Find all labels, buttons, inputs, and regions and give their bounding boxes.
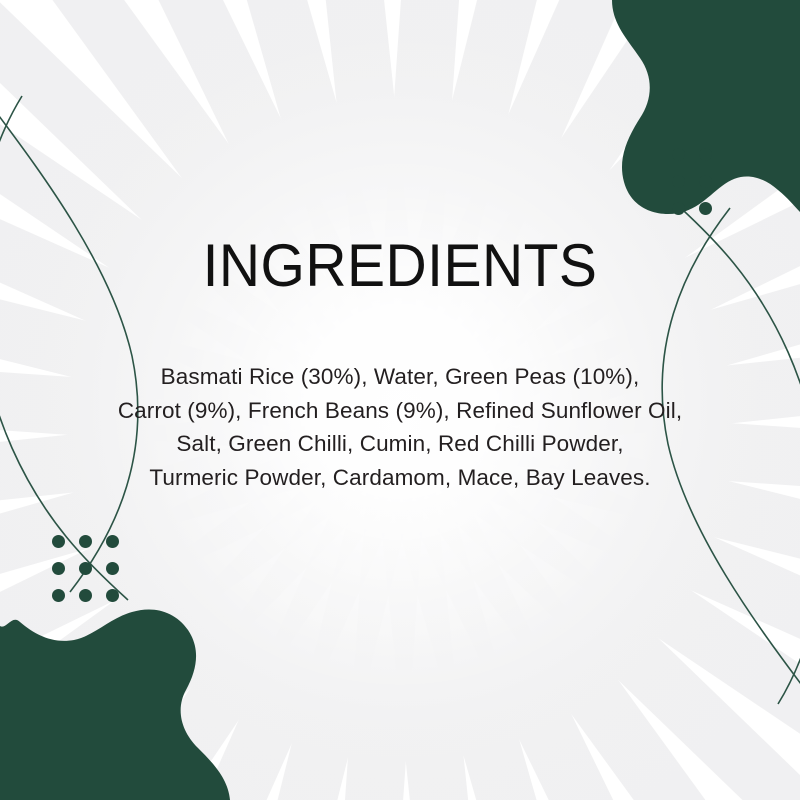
ingredients-line: Turmeric Powder, Cardamom, Mace, Bay Lea… [0,461,800,495]
content-area: INGREDIENTS Basmati Rice (30%), Water, G… [0,0,800,800]
ingredients-line: Carrot (9%), French Beans (9%), Refined … [0,394,800,428]
ingredients-label-canvas: INGREDIENTS Basmati Rice (30%), Water, G… [0,0,800,800]
ingredients-line: Basmati Rice (30%), Water, Green Peas (1… [0,360,800,394]
ingredients-list: Basmati Rice (30%), Water, Green Peas (1… [0,360,800,494]
ingredients-line: Salt, Green Chilli, Cumin, Red Chilli Po… [0,427,800,461]
page-title: INGREDIENTS [20,233,780,299]
